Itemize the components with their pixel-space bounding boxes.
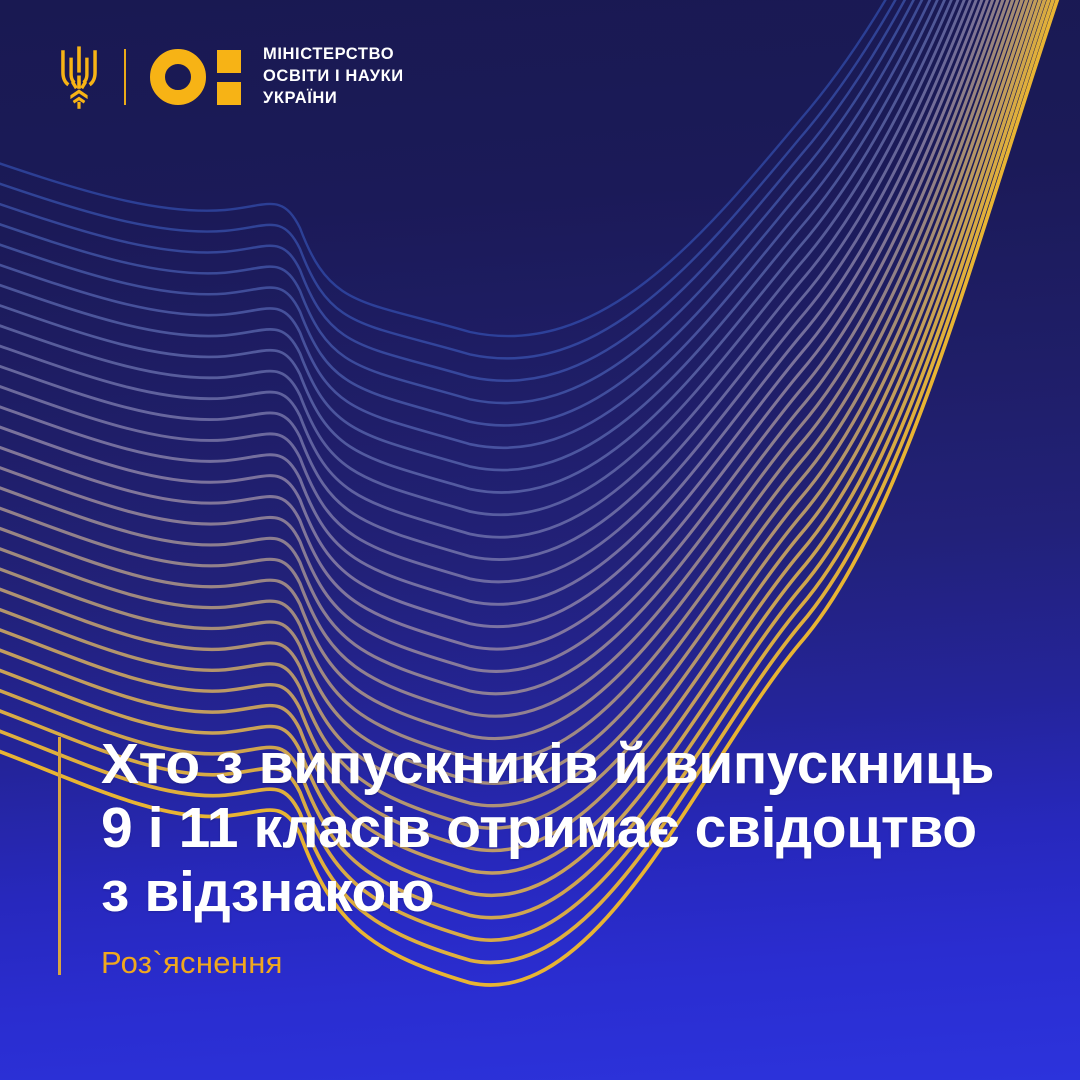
wave-line <box>0 0 1080 739</box>
subtitle: Роз`яснення <box>101 946 994 980</box>
logo-square-bottom <box>217 82 241 105</box>
logo-o-ring <box>150 49 206 105</box>
page-title: Хто з випускників й випускниць 9 і 11 кл… <box>101 733 994 924</box>
headline-text-group: Хто з випускників й випускниць 9 і 11 кл… <box>61 733 994 981</box>
headline-block: Хто з випускників й випускниць 9 і 11 кл… <box>58 733 994 981</box>
wave-line <box>0 0 1080 783</box>
ministry-name: МІНІСТЕРСТВО ОСВІТИ І НАУКИ УКРАЇНИ <box>263 44 404 110</box>
wave-line <box>0 0 1080 851</box>
logo-colon-squares <box>217 50 241 105</box>
wave-line <box>0 0 1080 828</box>
logo-square-top <box>217 50 241 73</box>
wave-line <box>0 0 1080 806</box>
logo-divider <box>124 49 126 105</box>
ministry-logo: МІНІСТЕРСТВО ОСВІТИ І НАУКИ УКРАЇНИ <box>56 44 404 110</box>
wave-line <box>0 0 1080 761</box>
social-card: МІНІСТЕРСТВО ОСВІТИ І НАУКИ УКРАЇНИ Хто … <box>0 0 1080 1080</box>
o-colon-mark <box>150 49 241 105</box>
tryzub-icon <box>56 44 102 110</box>
